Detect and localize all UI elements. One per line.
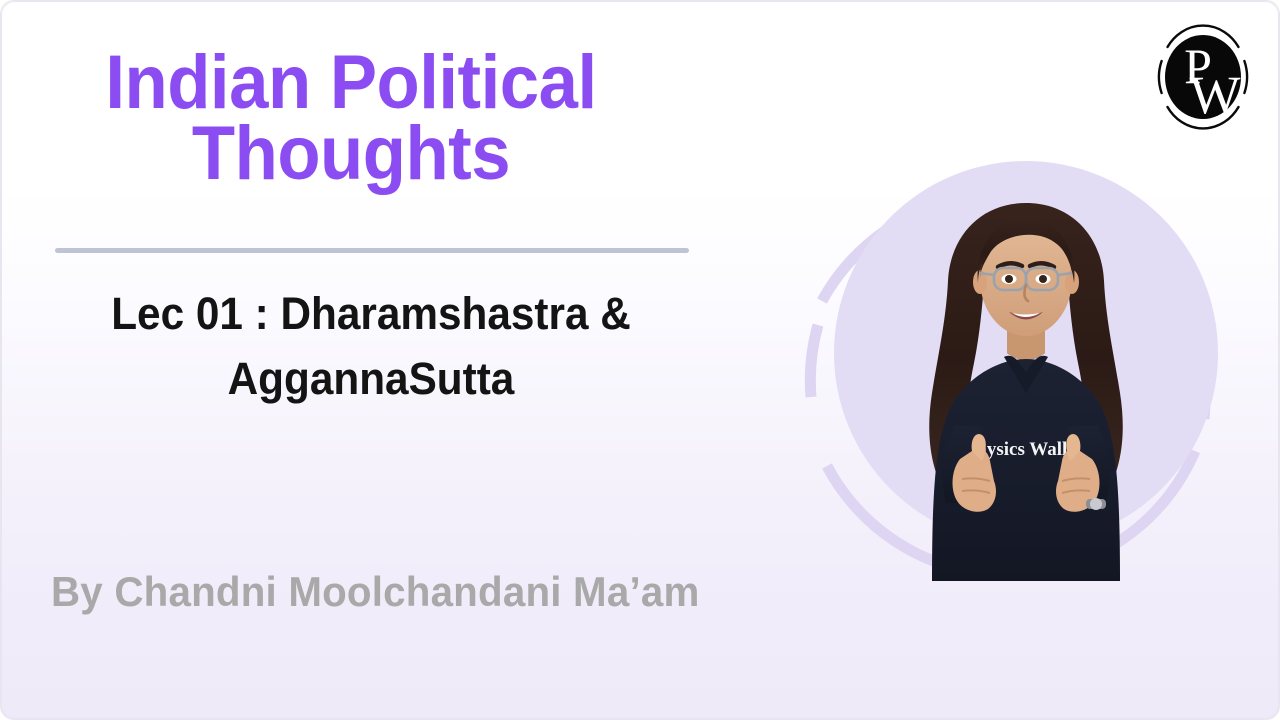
presenter-photo: Physics Wallah (834, 161, 1218, 581)
physics-wallah-logo: P W (1149, 21, 1257, 133)
lecture-title-slide: Indian Political Thoughts Lec 01 : Dhara… (0, 0, 1280, 720)
svg-text:W: W (1190, 65, 1241, 125)
title-divider (55, 248, 689, 253)
presenter-byline: By Chandni Moolchandani Ma’am (51, 569, 700, 615)
lecture-subtitle: Lec 01 : Dharamshastra & AggannaSutta (23, 281, 719, 412)
presenter-figure: Physics Wallah (796, 129, 1256, 619)
page-title: Indian Political Thoughts (26, 47, 677, 190)
text-column: Indian Political Thoughts Lec 01 : Dhara… (1, 1, 741, 720)
pw-logo-icon: P W (1149, 21, 1257, 133)
presenter-illustration: Physics Wallah (876, 187, 1176, 581)
